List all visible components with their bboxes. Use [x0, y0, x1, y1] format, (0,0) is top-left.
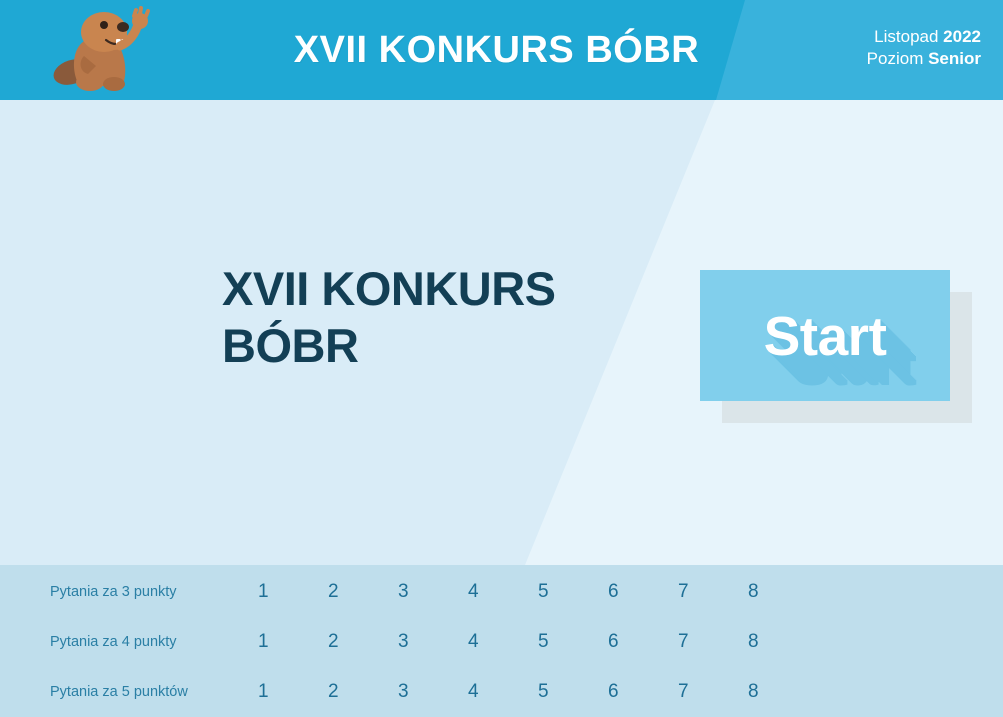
question-row-label: Pytania za 3 punkty	[50, 584, 250, 600]
start-button-bevel-right	[950, 270, 972, 423]
question-number-button[interactable]: 4	[468, 631, 538, 653]
question-number-button[interactable]: 3	[398, 581, 468, 603]
page-header: XVII KONKURS BÓBR Listopad 2022 Poziom S…	[0, 0, 1003, 100]
question-number-button[interactable]: 1	[258, 581, 328, 603]
question-row-3pt: Pytania za 3 punkty 1 2 3 4 5 6 7 8	[0, 575, 1003, 609]
header-meta-month: Listopad	[874, 27, 943, 46]
quiz-start-page: XVII KONKURS BÓBR Listopad 2022 Poziom S…	[0, 0, 1003, 717]
question-number-button[interactable]: 5	[538, 681, 608, 703]
question-number-button[interactable]: 6	[608, 681, 678, 703]
start-button-bevel-bottom	[700, 401, 972, 423]
header-meta-level: Poziom Senior	[721, 48, 981, 70]
question-number-button[interactable]: 7	[678, 681, 748, 703]
page-title: XVII KONKURS BÓBR	[222, 260, 642, 375]
header-meta-level-label: Poziom	[867, 49, 928, 68]
header-meta-year: 2022	[943, 27, 981, 46]
question-number-button[interactable]: 6	[608, 581, 678, 603]
question-number-list: 1 2 3 4 5 6 7 8	[258, 581, 818, 603]
question-number-button[interactable]: 1	[258, 681, 328, 703]
question-row-4pt: Pytania za 4 punkty 1 2 3 4 5 6 7 8	[0, 625, 1003, 659]
header-meta: Listopad 2022 Poziom Senior	[721, 26, 981, 70]
question-number-button[interactable]: 5	[538, 631, 608, 653]
question-navigation-panel: Pytania za 3 punkty 1 2 3 4 5 6 7 8 Pyta…	[0, 565, 1003, 717]
question-number-button[interactable]: 7	[678, 631, 748, 653]
question-number-button[interactable]: 2	[328, 581, 398, 603]
question-number-button[interactable]: 6	[608, 631, 678, 653]
question-number-button[interactable]: 1	[258, 631, 328, 653]
question-number-button[interactable]: 4	[468, 581, 538, 603]
main-stage: XVII KONKURS BÓBR Start	[0, 100, 1003, 565]
question-row-5pt: Pytania za 5 punktów 1 2 3 4 5 6 7 8	[0, 675, 1003, 709]
beaver-mascot-icon	[48, 6, 154, 98]
question-number-button[interactable]: 8	[748, 681, 818, 703]
start-button-label: Start	[764, 304, 887, 368]
start-button-group: Start	[700, 270, 975, 425]
start-button[interactable]: Start	[700, 270, 950, 401]
question-number-button[interactable]: 8	[748, 581, 818, 603]
question-number-button[interactable]: 3	[398, 681, 468, 703]
question-number-button[interactable]: 7	[678, 581, 748, 603]
header-meta-date: Listopad 2022	[721, 26, 981, 48]
question-number-list: 1 2 3 4 5 6 7 8	[258, 681, 818, 703]
question-number-button[interactable]: 4	[468, 681, 538, 703]
question-number-button[interactable]: 5	[538, 581, 608, 603]
header-meta-level-value: Senior	[928, 49, 981, 68]
question-row-label: Pytania za 4 punkty	[50, 634, 250, 650]
question-row-label: Pytania za 5 punktów	[50, 684, 250, 700]
question-number-button[interactable]: 3	[398, 631, 468, 653]
question-number-list: 1 2 3 4 5 6 7 8	[258, 631, 818, 653]
question-number-button[interactable]: 2	[328, 631, 398, 653]
question-number-button[interactable]: 2	[328, 681, 398, 703]
question-number-button[interactable]: 8	[748, 631, 818, 653]
